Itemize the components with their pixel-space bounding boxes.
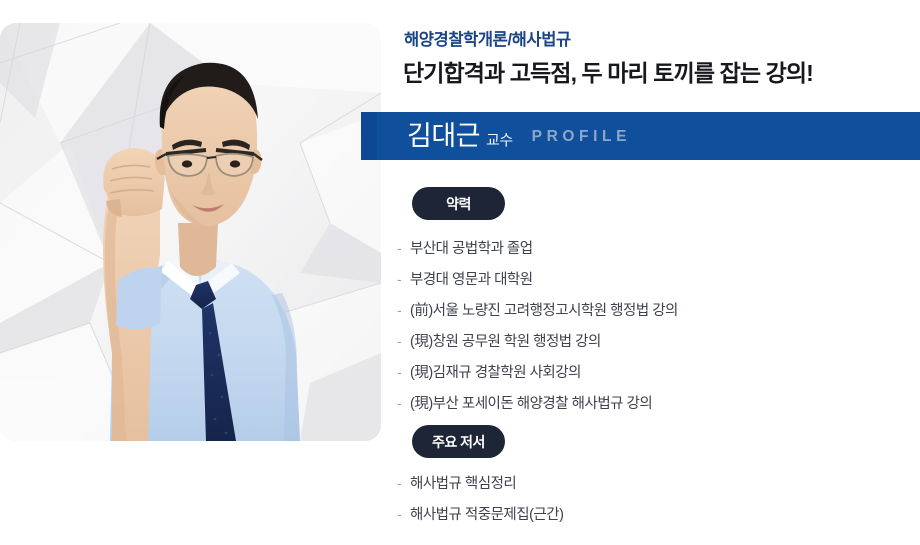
instructor-name: 김대근 [407,123,480,150]
list-item-label: (前)서울 노량진 고려행정고시학원 행정법 강의 [410,299,678,320]
list-item: - (現)창원 공무원 학원 행정법 강의 [397,330,678,361]
career-list: - 부산대 공법학과 졸업 - 부경대 영문과 대학원 - (前)서울 노량진 … [397,237,678,423]
instructor-photo-card [0,23,381,441]
section-badge-books: 주요 저서 [412,425,505,458]
list-item: - (現)부산 포세이돈 해양경찰 해사법규 강의 [397,392,678,423]
bullet-dash: - [397,240,410,256]
list-item-label: (現)부산 포세이돈 해양경찰 해사법규 강의 [410,392,652,413]
bullet-dash: - [397,364,410,380]
list-item-label: 해사법규 핵심정리 [410,472,516,493]
instructor-profile-banner: 해양경찰학개론/해사법규 단기합격과 고득점, 두 마리 토끼를 잡는 강의! … [0,0,920,545]
list-item-label: (現)김재규 경찰학원 사회강의 [410,361,581,382]
page-headline: 단기합격과 고득점, 두 마리 토끼를 잡는 강의! [403,54,813,88]
list-item-label: 부경대 영문과 대학원 [410,268,533,289]
bullet-dash: - [397,395,410,411]
bullet-dash: - [397,506,410,522]
list-item-label: 해사법규 적중문제집(근간) [410,503,563,524]
profile-label: PROFILE [532,128,631,146]
list-item: - (前)서울 노량진 고려행정고시학원 행정법 강의 [397,299,678,330]
bullet-dash: - [397,475,410,491]
list-item: - (現)김재규 경찰학원 사회강의 [397,361,678,392]
bullet-dash: - [397,271,410,287]
list-item: - 부산대 공법학과 졸업 [397,237,678,268]
section-badge-career: 약력 [412,187,505,220]
list-item: - 해사법규 적중문제집(근간) [397,503,563,534]
list-item: - 부경대 영문과 대학원 [397,268,678,299]
portrait-illustration [0,23,381,441]
books-list: - 해사법규 핵심정리 - 해사법규 적중문제집(근간) [397,472,563,534]
course-subject-line: 해양경찰학개론/해사법규 [404,26,571,50]
list-item: - 해사법규 핵심정리 [397,472,563,503]
name-bar-accent-strip [361,112,377,160]
instructor-role: 교수 [486,129,513,150]
list-item-label: (現)창원 공무원 학원 행정법 강의 [410,330,601,351]
list-item-label: 부산대 공법학과 졸업 [410,237,533,258]
instructor-name-bar: 김대근 교수 PROFILE [361,112,920,160]
bullet-dash: - [397,333,410,349]
bullet-dash: - [397,302,410,318]
